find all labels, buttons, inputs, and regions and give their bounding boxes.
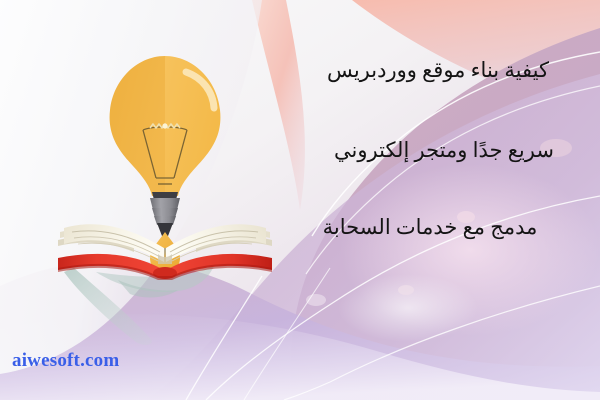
lightbulb-book-illustration (0, 0, 600, 400)
watermark-aiwesoft: aiwesoft.com (12, 350, 119, 372)
book-shadow (64, 266, 214, 345)
banner-image: كيفية بناء موقع ووردبريس سريع جدًا ومتجر… (0, 0, 600, 400)
